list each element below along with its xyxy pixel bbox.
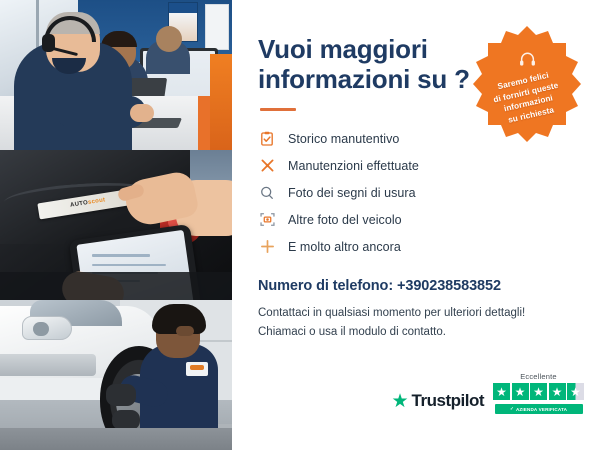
- page-title-line1: Vuoi maggiori: [258, 34, 428, 64]
- phone-line: Numero di telefono: +390238583852: [258, 278, 576, 294]
- trustpilot-star-icon: ★: [392, 392, 409, 411]
- star-icon: ★: [512, 383, 529, 400]
- feature-list: Storico manutentivo Manutenzioni effettu…: [258, 125, 576, 260]
- trustpilot-logo: ★ Trustpilot: [392, 391, 485, 414]
- mechanic-wheel-photo: [0, 300, 232, 450]
- feature-label: Foto dei segni di usura: [288, 186, 416, 200]
- phone-label: Numero di telefono:: [258, 278, 397, 294]
- list-item: Manutenzioni effettuate: [258, 152, 576, 179]
- callout-badge: Saremo felici di fornirti queste informa…: [468, 24, 586, 142]
- star-icon: ★: [530, 383, 547, 400]
- contact-note: Contattaci in qualsiasi momento per ulte…: [258, 304, 576, 341]
- clipboard-check-icon: [258, 130, 276, 148]
- feature-label: Storico manutentivo: [288, 132, 399, 146]
- car-inspection-tool-photo: AUTOscout: [0, 150, 232, 300]
- verified-badge: ✓ AZIENDA VERIFICATA: [495, 404, 583, 414]
- list-item: Foto dei segni di usura: [258, 179, 576, 206]
- plus-icon: [258, 238, 276, 256]
- feature-label: Altre foto del veicolo: [288, 213, 402, 227]
- photo-scan-icon: [258, 211, 276, 229]
- star-icon: ★: [493, 383, 510, 400]
- trustpilot-stars: ★ ★ ★ ★ ★: [493, 383, 584, 400]
- star-icon-half: ★: [567, 383, 584, 400]
- promo-banner: AUTOscout: [0, 0, 600, 450]
- headset-icon: [518, 50, 537, 74]
- phone-number: +390238583852: [397, 278, 501, 294]
- trustpilot-name: Trustpilot: [412, 391, 484, 411]
- verified-label: AZIENDA VERIFICATA: [516, 407, 567, 412]
- magnifier-icon: [258, 184, 276, 202]
- trustpilot-widget[interactable]: ★ Trustpilot Eccellente ★ ★ ★ ★ ★ ✓ AZIE…: [392, 372, 585, 414]
- feature-label: E molto altro ancora: [288, 240, 401, 254]
- feature-label: Manutenzioni effettuate: [288, 159, 419, 173]
- list-item: Altre foto del veicolo: [258, 206, 576, 233]
- star-icon: ★: [549, 383, 566, 400]
- list-item: E molto altro ancora: [258, 233, 576, 260]
- trustpilot-rating-block: Eccellente ★ ★ ★ ★ ★ ✓ AZIENDA VERIFICAT…: [493, 372, 584, 414]
- contact-note-line2: Chiamaci o usa il modulo di contatto.: [258, 323, 576, 342]
- contact-note-line1: Contattaci in qualsiasi momento per ulte…: [258, 304, 576, 323]
- content-panel: Vuoi maggiori informazioni su ? Storico …: [232, 0, 600, 450]
- wrench-cross-icon: [258, 157, 276, 175]
- photo-column: AUTOscout: [0, 0, 232, 450]
- badge-text: Saremo felici di fornirti queste informa…: [489, 68, 564, 128]
- trustpilot-rating-label: Eccellente: [520, 372, 557, 381]
- title-divider: [260, 108, 296, 111]
- verified-check-icon: ✓: [510, 406, 514, 412]
- call-center-agents-photo: [0, 0, 232, 150]
